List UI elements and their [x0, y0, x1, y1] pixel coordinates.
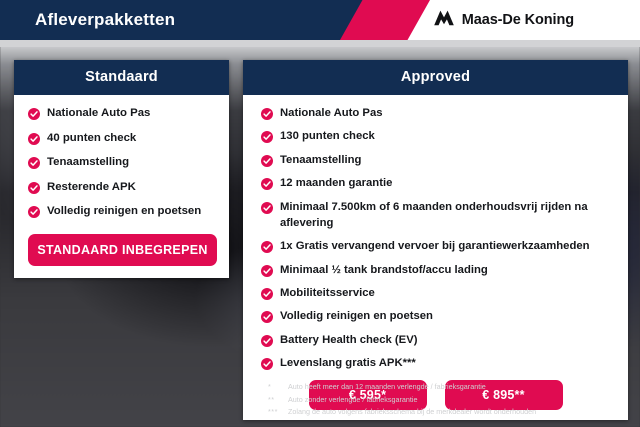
- list-item: Mobiliteitsservice: [261, 285, 616, 301]
- list-item: Minimaal ½ tank brandstof/accu lading: [261, 262, 616, 278]
- footnote-text: Zolang de auto volgens fabrieksschema bi…: [288, 406, 628, 419]
- package-body-standaard: Nationale Auto Pas 40 punten check Tenaa…: [14, 95, 229, 278]
- list-item: Volledig reinigen en poetsen: [28, 203, 217, 220]
- feature-label: Levenslang gratis APK***: [280, 355, 416, 371]
- check-circle-icon: [261, 107, 273, 119]
- list-item: Nationale Auto Pas: [28, 105, 217, 122]
- list-item: Tenaamstelling: [28, 154, 217, 171]
- feature-label: Volledig reinigen en poetsen: [47, 203, 201, 220]
- list-item: Levenslang gratis APK***: [261, 355, 616, 371]
- feature-label: 40 punten check: [47, 130, 136, 147]
- footnote-row: *** Zolang de auto volgens fabrieksschem…: [268, 406, 628, 419]
- footnote-text: Auto zonder verlengde / fabrieksgarantie: [288, 394, 628, 407]
- list-item: Tenaamstelling: [261, 152, 616, 168]
- package-title-approved: Approved: [243, 60, 628, 95]
- check-circle-icon: [261, 264, 273, 276]
- list-item: Minimaal 7.500km of 6 maanden onderhouds…: [261, 199, 616, 232]
- package-body-approved: Nationale Auto Pas 130 punten check Tena…: [243, 95, 628, 420]
- footnote-text: Auto heeft meer dan 12 maanden verlengde…: [288, 381, 628, 394]
- feature-label: Battery Health check (EV): [280, 332, 418, 348]
- check-circle-icon: [28, 181, 40, 193]
- feature-label: Nationale Auto Pas: [280, 105, 383, 121]
- afleverpakketten-slide: Afleverpakketten Maas-De Koning Standaar…: [0, 0, 640, 427]
- check-circle-icon: [261, 287, 273, 299]
- feature-label: 130 punten check: [280, 128, 375, 144]
- page-title: Afleverpakketten: [35, 0, 175, 40]
- feature-label: Minimaal 7.500km of 6 maanden onderhouds…: [280, 199, 616, 232]
- check-circle-icon: [261, 177, 273, 189]
- package-card-approved: Approved Nationale Auto Pas 130 punten c…: [243, 60, 628, 420]
- check-circle-icon: [28, 156, 40, 168]
- footnote-row: * Auto heeft meer dan 12 maanden verleng…: [268, 381, 628, 394]
- package-title-standaard: Standaard: [14, 60, 229, 95]
- footnotes: * Auto heeft meer dan 12 maanden verleng…: [268, 381, 628, 419]
- list-item: Volledig reinigen en poetsen: [261, 308, 616, 324]
- list-item: 130 punten check: [261, 128, 616, 144]
- check-circle-icon: [261, 154, 273, 166]
- check-circle-icon: [261, 334, 273, 346]
- feature-label: Mobiliteitsservice: [280, 285, 375, 301]
- list-item: 40 punten check: [28, 130, 217, 147]
- feature-label: Volledig reinigen en poetsen: [280, 308, 433, 324]
- feature-label: Resterende APK: [47, 179, 136, 196]
- maas-de-koning-m-logo-icon: [433, 10, 455, 31]
- feature-label: Tenaamstelling: [47, 154, 129, 171]
- check-circle-icon: [261, 201, 273, 213]
- package-card-standaard: Standaard Nationale Auto Pas 40 punten c…: [14, 60, 229, 278]
- standaard-inbegrepen-button[interactable]: STANDAARD INBEGREPEN: [28, 234, 217, 266]
- check-circle-icon: [261, 310, 273, 322]
- feature-label: 1x Gratis vervangend vervoer bij garanti…: [280, 238, 590, 254]
- check-circle-icon: [261, 357, 273, 369]
- footnote-marker: **: [268, 394, 282, 407]
- list-item: Battery Health check (EV): [261, 332, 616, 348]
- feature-list-standaard: Nationale Auto Pas 40 punten check Tenaa…: [28, 105, 217, 220]
- feature-label: Nationale Auto Pas: [47, 105, 150, 122]
- check-circle-icon: [261, 240, 273, 252]
- feature-label: 12 maanden garantie: [280, 175, 392, 191]
- check-circle-icon: [261, 130, 273, 142]
- list-item: 1x Gratis vervangend vervoer bij garanti…: [261, 238, 616, 254]
- check-circle-icon: [28, 132, 40, 144]
- footnote-row: ** Auto zonder verlengde / fabrieksgaran…: [268, 394, 628, 407]
- feature-label: Minimaal ½ tank brandstof/accu lading: [280, 262, 488, 278]
- list-item: 12 maanden garantie: [261, 175, 616, 191]
- brand-name: Maas-De Koning: [462, 12, 574, 28]
- feature-list-approved: Nationale Auto Pas 130 punten check Tena…: [261, 105, 616, 372]
- list-item: Nationale Auto Pas: [261, 105, 616, 121]
- background-top-strip: [0, 40, 640, 47]
- footnote-marker: *: [268, 381, 282, 394]
- page-header: Afleverpakketten Maas-De Koning: [0, 0, 640, 40]
- footnote-marker: ***: [268, 406, 282, 419]
- check-circle-icon: [28, 107, 40, 119]
- feature-label: Tenaamstelling: [280, 152, 361, 168]
- list-item: Resterende APK: [28, 179, 217, 196]
- check-circle-icon: [28, 205, 40, 217]
- brand-lockup: Maas-De Koning: [433, 0, 574, 40]
